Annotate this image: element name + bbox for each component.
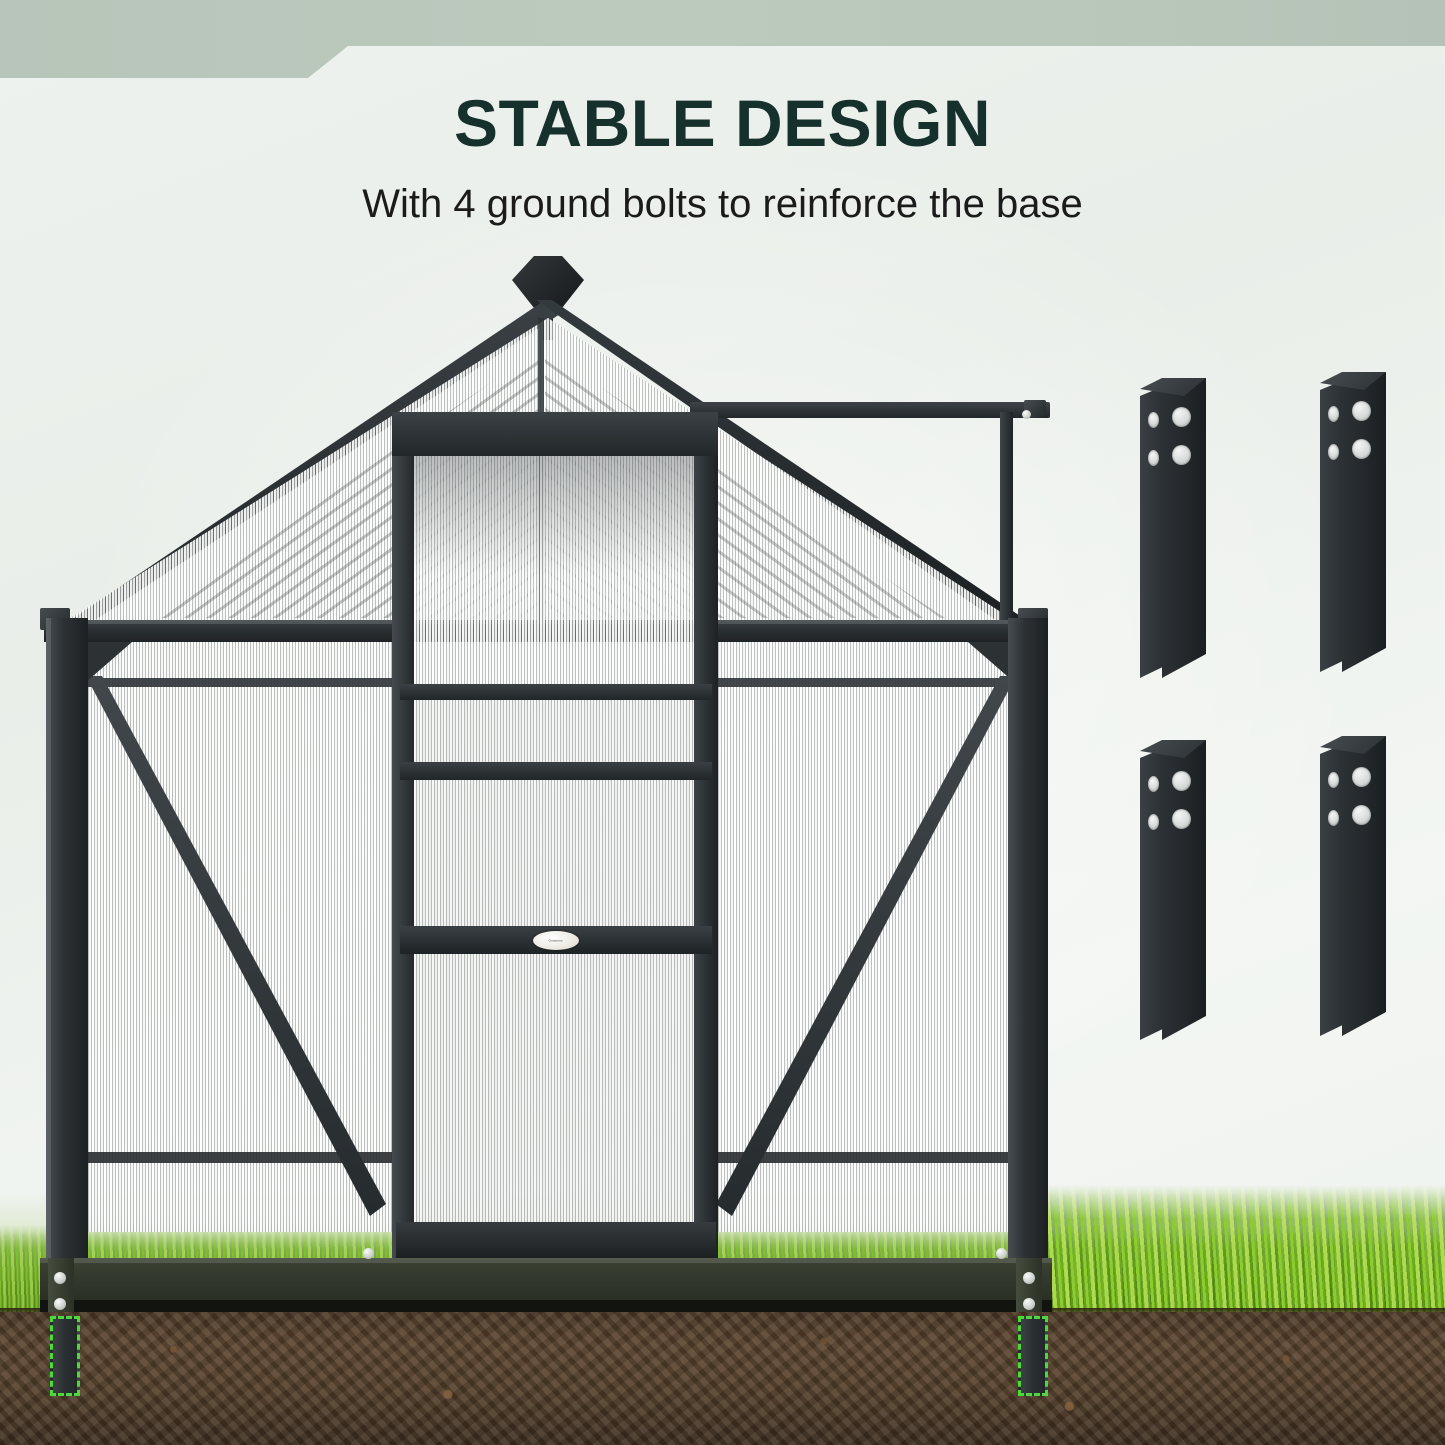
bolt-hole-front-upper <box>1172 407 1191 427</box>
corner-post-left-edge <box>46 618 51 1258</box>
buried-anchor-left <box>50 1316 80 1396</box>
bolt-hole-front-lower <box>1172 809 1191 829</box>
bolt-hole-side-upper <box>1328 772 1339 788</box>
bolt-hole-side-upper <box>1148 412 1159 428</box>
bolt-hole-side-lower <box>1328 810 1339 826</box>
door-threshold <box>396 1222 716 1260</box>
corner-post-left <box>46 618 88 1258</box>
ground-bolt-bottom-right <box>1320 736 1390 1036</box>
sill-screw-left <box>363 1248 374 1259</box>
bolt-hole-front-upper <box>1352 767 1371 787</box>
door-header <box>392 412 718 456</box>
bolt-hole-front-lower <box>1172 445 1191 465</box>
door-frame-left-jamb <box>392 412 414 1260</box>
bolt-hole-side-upper <box>1328 406 1339 422</box>
wall-rail-left-upper <box>86 678 396 687</box>
product-feature-image: STABLE DESIGN With 4 ground bolts to rei… <box>0 0 1445 1445</box>
base-screw-left-upper <box>54 1272 66 1284</box>
sill-screw-right <box>996 1248 1007 1259</box>
base-screw-right-lower <box>1023 1298 1035 1310</box>
door-pane-mid <box>414 778 694 928</box>
buried-anchor-right <box>1018 1316 1048 1396</box>
roof-vent-pivot-screw <box>1022 410 1031 419</box>
base-sill-shadow <box>40 1300 1052 1312</box>
greenhouse-illustration: Outsunny <box>0 0 1445 1445</box>
bolt-hole-front-lower <box>1352 805 1371 825</box>
wall-rail-right-upper <box>716 678 1014 687</box>
base-screw-left-lower <box>54 1298 66 1310</box>
bolt-hole-side-lower <box>1148 450 1159 466</box>
bolt-hole-side-upper <box>1148 776 1159 792</box>
bolt-side-face <box>1320 380 1344 672</box>
bolt-hole-front-lower <box>1352 439 1371 459</box>
bolt-hole-side-lower <box>1148 814 1159 830</box>
door-frame-right-jamb <box>694 412 718 1260</box>
bolt-side-face <box>1140 386 1164 678</box>
roof-vent-strut <box>1000 412 1013 630</box>
ground-bolt-bottom-left <box>1140 740 1210 1040</box>
door-rail-middle <box>400 762 712 780</box>
bolt-hole-front-upper <box>1172 771 1191 791</box>
door-pane-top-shade <box>414 456 694 576</box>
base-sill-highlight <box>40 1258 1052 1263</box>
door-pane-lower <box>414 952 694 1222</box>
brand-badge-label: Outsunny <box>549 939 563 942</box>
door-rail-upper <box>400 684 712 700</box>
corner-post-right <box>1008 618 1048 1258</box>
roof-vent-top-rail <box>690 402 1050 418</box>
bolt-hole-front-upper <box>1352 401 1371 421</box>
brand-badge: Outsunny <box>533 931 579 950</box>
ground-bolt-top-left <box>1140 378 1210 678</box>
door-pane-upper-mid <box>414 698 694 766</box>
ground-bolt-top-right <box>1320 372 1390 672</box>
bolt-hole-side-lower <box>1328 444 1339 460</box>
base-screw-right-upper <box>1023 1272 1035 1284</box>
